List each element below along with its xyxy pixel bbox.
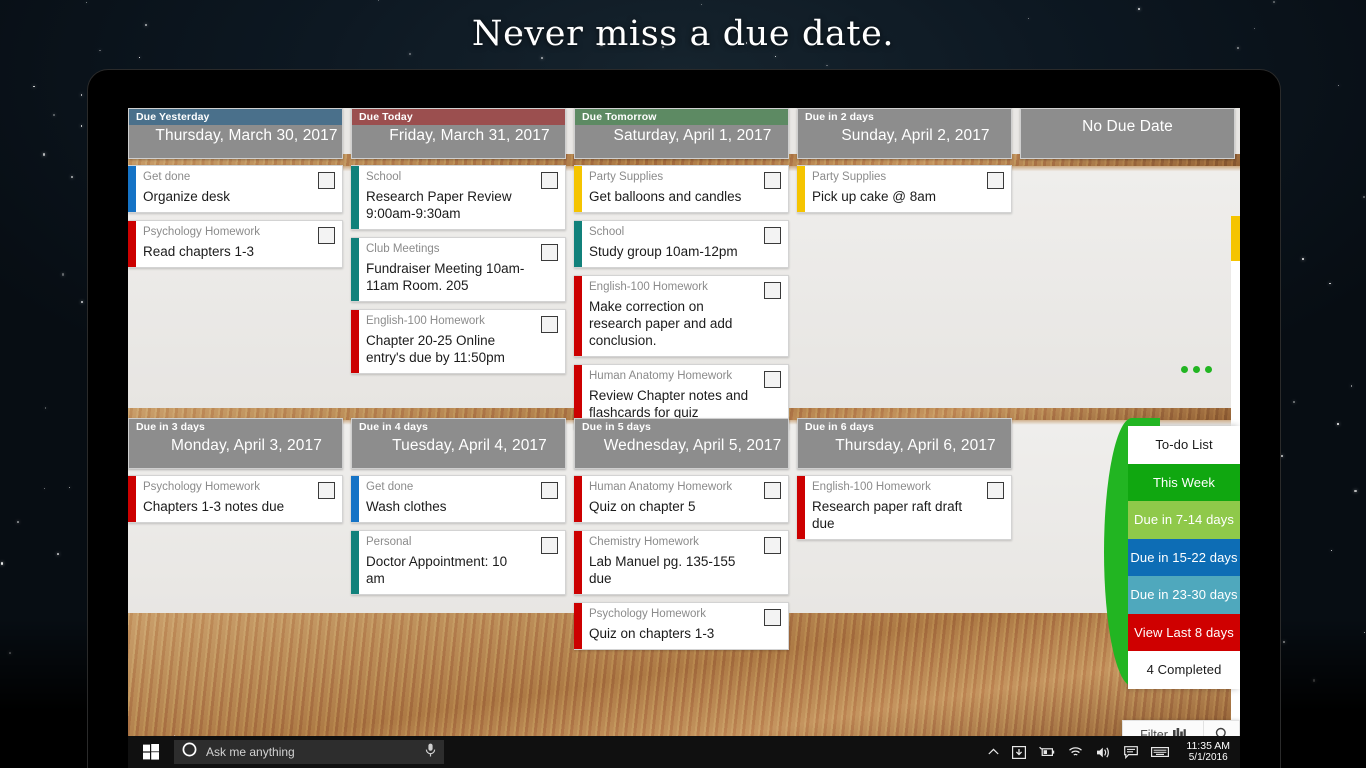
task-text: Pick up cake @ 8am — [812, 185, 1005, 205]
task-card-body: Get doneWash clothes — [359, 476, 565, 522]
flyout-item-due-in-7-14-days[interactable]: Due in 7-14 days — [1128, 501, 1240, 539]
task-list: Get doneWash clothesPersonalDoctor Appoi… — [351, 475, 566, 595]
star — [71, 176, 73, 178]
task-category-stripe — [574, 276, 582, 356]
star — [1338, 85, 1339, 86]
task-category-label: English-100 Homework — [589, 280, 782, 295]
task-card[interactable]: Party SuppliesPick up cake @ 8am — [797, 165, 1012, 213]
star — [1363, 196, 1365, 198]
task-card[interactable]: Party SuppliesGet balloons and candles — [574, 165, 789, 213]
task-checkbox[interactable] — [764, 482, 781, 499]
star — [1329, 283, 1330, 284]
task-category-stripe — [128, 476, 136, 522]
day-column: Due TomorrowSaturday, April 1, 2017Party… — [574, 108, 789, 436]
battery-icon[interactable] — [1039, 746, 1055, 758]
column-header[interactable]: Due in 4 daysTuesday, April 4, 2017 — [351, 418, 566, 469]
star — [57, 553, 59, 555]
column-header[interactable]: Due TodayFriday, March 31, 2017 — [351, 108, 566, 159]
task-text: Chapter 20-25 Online entry's due by 11:5… — [366, 329, 559, 366]
task-category-stripe — [128, 221, 136, 267]
dot-3 — [1205, 366, 1212, 373]
task-text: Research Paper Review 9:00am-9:30am — [366, 185, 559, 222]
task-card[interactable]: SchoolStudy group 10am-12pm — [574, 220, 789, 268]
task-card-body: Psychology HomeworkQuiz on chapters 1-3 — [582, 603, 788, 649]
day-column: Due YesterdayThursday, March 30, 2017Get… — [128, 108, 343, 275]
windows-start-icon[interactable] — [128, 736, 174, 768]
page-title: Never miss a due date. — [0, 14, 1366, 54]
windows-taskbar: Ask me anything — [128, 736, 1240, 768]
day-column: Due in 4 daysTuesday, April 4, 2017Get d… — [351, 418, 566, 602]
task-card[interactable]: Psychology HomeworkRead chapters 1-3 — [128, 220, 343, 268]
task-text: Read chapters 1-3 — [143, 240, 336, 260]
task-category-label: Human Anatomy Homework — [589, 369, 782, 384]
task-list: Psychology HomeworkChapters 1-3 notes du… — [128, 475, 343, 523]
star — [1354, 490, 1356, 492]
cortana-circle-icon — [182, 742, 197, 762]
task-category-stripe — [574, 166, 582, 212]
task-checkbox[interactable] — [541, 316, 558, 333]
column-header[interactable]: Due in 5 daysWednesday, April 5, 2017 — [574, 418, 789, 469]
column-date-label: Tuesday, April 4, 2017 — [352, 435, 565, 455]
task-list: Human Anatomy HomeworkQuiz on chapter 5C… — [574, 475, 789, 650]
star — [81, 94, 82, 95]
flyout-item-to-do-list[interactable]: To-do List — [1128, 426, 1240, 464]
task-card[interactable]: Get doneWash clothes — [351, 475, 566, 523]
star — [81, 125, 83, 127]
laptop-frame: Due YesterdayThursday, March 30, 2017Get… — [88, 70, 1280, 768]
star — [44, 488, 45, 489]
cortana-search-box[interactable]: Ask me anything — [174, 740, 444, 764]
task-category-stripe — [351, 476, 359, 522]
day-column: No Due Date — [1020, 108, 1235, 165]
day-column: Due in 5 daysWednesday, April 5, 2017Hum… — [574, 418, 789, 657]
task-text: Get balloons and candles — [589, 185, 782, 205]
task-card[interactable]: Get doneOrganize desk — [128, 165, 343, 213]
taskbar-clock[interactable]: 11:35 AM 5/1/2016 — [1182, 740, 1230, 764]
task-category-stripe — [351, 238, 359, 301]
task-category-label: Get done — [143, 170, 336, 185]
task-category-label: Psychology Homework — [589, 607, 782, 622]
action-center-icon[interactable] — [1124, 746, 1138, 759]
task-text: Chapters 1-3 notes due — [143, 495, 336, 515]
task-card-body: Psychology HomeworkRead chapters 1-3 — [136, 221, 342, 267]
task-checkbox[interactable] — [764, 537, 781, 554]
onedrive-icon[interactable] — [1012, 746, 1026, 759]
task-category-stripe — [797, 166, 805, 212]
column-date-label: No Due Date — [1082, 118, 1173, 136]
task-card-body: Party SuppliesPick up cake @ 8am — [805, 166, 1011, 212]
task-category-label: Personal — [366, 535, 559, 550]
task-card[interactable]: English-100 HomeworkResearch paper raft … — [797, 475, 1012, 540]
task-text: Wash clothes — [366, 495, 559, 515]
task-card-body: Psychology HomeworkChapters 1-3 notes du… — [136, 476, 342, 522]
column-due-tag: Due in 4 days — [352, 419, 565, 435]
star — [86, 2, 87, 3]
task-checkbox[interactable] — [987, 172, 1004, 189]
flyout-item-view-last-8-days[interactable]: View Last 8 days — [1128, 614, 1240, 652]
task-category-label: Party Supplies — [812, 170, 1005, 185]
star — [1, 562, 3, 564]
task-text: Make correction on research paper and ad… — [589, 295, 782, 349]
cortana-placeholder: Ask me anything — [206, 745, 416, 759]
system-tray: 11:35 AM 5/1/2016 — [988, 740, 1240, 764]
flyout-item-4-completed[interactable]: 4 Completed — [1128, 651, 1240, 689]
task-text: Quiz on chapters 1-3 — [589, 622, 782, 642]
wifi-icon[interactable] — [1068, 746, 1083, 758]
star — [62, 273, 64, 275]
column-date-label: Thursday, April 6, 2017 — [798, 435, 1011, 455]
clock-date: 5/1/2016 — [1186, 752, 1230, 764]
task-checkbox[interactable] — [541, 537, 558, 554]
task-list: Party SuppliesPick up cake @ 8am — [797, 165, 1012, 213]
star — [1293, 401, 1295, 403]
flyout-item-due-in-23-30-days[interactable]: Due in 23-30 days — [1128, 576, 1240, 614]
task-card[interactable]: PersonalDoctor Appointment: 10 am — [351, 530, 566, 595]
volume-icon[interactable] — [1096, 746, 1111, 759]
clock-time: 11:35 AM — [1186, 740, 1230, 752]
laptop-screen: Due YesterdayThursday, March 30, 2017Get… — [128, 108, 1240, 768]
task-card-body: English-100 HomeworkChapter 20-25 Online… — [359, 310, 565, 373]
dot-2 — [1193, 366, 1200, 373]
task-card[interactable]: Chemistry HomeworkLab Manuel pg. 135-155… — [574, 530, 789, 595]
task-category-stripe — [574, 221, 582, 267]
task-category-stripe — [574, 531, 582, 594]
keyboard-icon[interactable] — [1151, 746, 1169, 758]
task-category-label: English-100 Homework — [812, 480, 1005, 495]
column-due-tag: Due Yesterday — [129, 109, 342, 125]
star — [1351, 385, 1352, 386]
chevron-up-icon[interactable] — [988, 748, 999, 756]
task-category-label: Club Meetings — [366, 242, 559, 257]
task-checkbox[interactable] — [318, 482, 335, 499]
column-date-label: Wednesday, April 5, 2017 — [575, 435, 788, 455]
star — [69, 487, 70, 488]
task-category-label: English-100 Homework — [366, 314, 559, 329]
column-header[interactable]: Due YesterdayThursday, March 30, 2017 — [128, 108, 343, 159]
task-checkbox[interactable] — [764, 172, 781, 189]
day-column: Due in 3 daysMonday, April 3, 2017Psycho… — [128, 418, 343, 530]
star — [17, 521, 19, 523]
task-card-body: Get doneOrganize desk — [136, 166, 342, 212]
task-card[interactable]: Psychology HomeworkChapters 1-3 notes du… — [128, 475, 343, 523]
task-checkbox[interactable] — [987, 482, 1004, 499]
column-header[interactable]: Due TomorrowSaturday, April 1, 2017 — [574, 108, 789, 159]
task-card[interactable]: English-100 HomeworkChapter 20-25 Online… — [351, 309, 566, 374]
microphone-icon[interactable] — [425, 743, 436, 762]
star — [53, 114, 55, 116]
task-checkbox[interactable] — [541, 482, 558, 499]
task-checkbox[interactable] — [764, 371, 781, 388]
dot-1 — [1181, 366, 1188, 373]
column-due-tag: Due in 6 days — [798, 419, 1011, 435]
star — [1331, 550, 1332, 551]
task-checkbox[interactable] — [541, 172, 558, 189]
day-column: Due TodayFriday, March 31, 2017SchoolRes… — [351, 108, 566, 381]
task-card-body: PersonalDoctor Appointment: 10 am — [359, 531, 565, 594]
task-card[interactable]: Club MeetingsFundraiser Meeting 10am-11a… — [351, 237, 566, 302]
column-due-tag: Due Today — [352, 109, 565, 125]
task-text: Organize desk — [143, 185, 336, 205]
column-due-tag: Due in 3 days — [129, 419, 342, 435]
task-card[interactable]: SchoolResearch Paper Review 9:00am-9:30a… — [351, 165, 566, 230]
task-checkbox[interactable] — [764, 609, 781, 626]
task-text: Review Chapter notes and flashcards for … — [589, 384, 782, 421]
sliver-yellow-stripe — [1231, 216, 1240, 261]
column-due-tag: Due in 2 days — [798, 109, 1011, 125]
column-header[interactable]: Due in 3 daysMonday, April 3, 2017 — [128, 418, 343, 469]
task-card[interactable]: Psychology HomeworkQuiz on chapters 1-3 — [574, 602, 789, 650]
task-card[interactable]: English-100 HomeworkMake correction on r… — [574, 275, 789, 357]
task-list: Party SuppliesGet balloons and candlesSc… — [574, 165, 789, 429]
task-text: Research paper raft draft due — [812, 495, 1005, 532]
star — [45, 407, 46, 408]
column-header[interactable]: Due in 6 daysThursday, April 6, 2017 — [797, 418, 1012, 469]
task-checkbox[interactable] — [541, 244, 558, 261]
task-card-body: Club MeetingsFundraiser Meeting 10am-11a… — [359, 238, 565, 301]
column-date-label: Friday, March 31, 2017 — [352, 125, 565, 145]
star — [33, 86, 34, 87]
task-category-stripe — [797, 476, 805, 539]
star — [1273, 1, 1275, 3]
star — [1337, 423, 1339, 425]
column-date-label: Monday, April 3, 2017 — [129, 435, 342, 455]
task-category-label: School — [366, 170, 559, 185]
task-text: Doctor Appointment: 10 am — [366, 550, 559, 587]
column-due-tag: Due Tomorrow — [575, 109, 788, 125]
column-header[interactable]: No Due Date — [1020, 108, 1235, 159]
flyout-item-due-in-15-22-days[interactable]: Due in 15-22 days — [1128, 539, 1240, 577]
star — [826, 65, 828, 67]
star — [1302, 258, 1304, 260]
task-list: SchoolResearch Paper Review 9:00am-9:30a… — [351, 165, 566, 374]
star — [81, 301, 83, 303]
task-checkbox[interactable] — [318, 227, 335, 244]
task-category-label: Psychology Homework — [143, 480, 336, 495]
star — [43, 153, 45, 155]
star — [541, 57, 543, 59]
star — [775, 56, 776, 57]
task-category-label: Get done — [366, 480, 559, 495]
task-category-stripe — [574, 476, 582, 522]
task-checkbox[interactable] — [764, 227, 781, 244]
day-column: Due in 6 daysThursday, April 6, 2017Engl… — [797, 418, 1012, 547]
task-card-body: SchoolResearch Paper Review 9:00am-9:30a… — [359, 166, 565, 229]
task-card-body: Human Anatomy HomeworkQuiz on chapter 5 — [582, 476, 788, 522]
task-text: Lab Manuel pg. 135-155 due — [589, 550, 782, 587]
task-category-stripe — [351, 166, 359, 229]
task-checkbox[interactable] — [764, 282, 781, 299]
task-card-body: SchoolStudy group 10am-12pm — [582, 221, 788, 267]
flyout-drag-dots[interactable] — [1181, 366, 1212, 373]
task-category-stripe — [574, 603, 582, 649]
task-category-stripe — [351, 310, 359, 373]
task-card-body: Party SuppliesGet balloons and candles — [582, 166, 788, 212]
task-category-label: Party Supplies — [589, 170, 782, 185]
task-category-label: School — [589, 225, 782, 240]
day-column: Due in 2 daysSunday, April 2, 2017Party … — [797, 108, 1012, 220]
star — [139, 57, 140, 58]
column-date-label: Saturday, April 1, 2017 — [575, 125, 788, 145]
task-list: Get doneOrganize deskPsychology Homework… — [128, 165, 343, 268]
task-checkbox[interactable] — [318, 172, 335, 189]
task-card[interactable]: Human Anatomy HomeworkQuiz on chapter 5 — [574, 475, 789, 523]
task-text: Study group 10am-12pm — [589, 240, 782, 260]
task-list: English-100 HomeworkResearch paper raft … — [797, 475, 1012, 540]
column-due-tag: Due in 5 days — [575, 419, 788, 435]
todo-filter-flyout[interactable]: To-do ListThis WeekDue in 7-14 daysDue i… — [1128, 426, 1240, 689]
column-header[interactable]: Due in 2 daysSunday, April 2, 2017 — [797, 108, 1012, 159]
column-date-label: Sunday, April 2, 2017 — [798, 125, 1011, 145]
task-card-body: Chemistry HomeworkLab Manuel pg. 135-155… — [582, 531, 788, 594]
star — [1281, 455, 1283, 457]
star — [1138, 8, 1140, 10]
task-text: Fundraiser Meeting 10am-11am Room. 205 — [366, 257, 559, 294]
star — [701, 4, 702, 5]
task-category-label: Human Anatomy Homework — [589, 480, 782, 495]
task-category-stripe — [128, 166, 136, 212]
task-card-body: English-100 HomeworkMake correction on r… — [582, 276, 788, 356]
task-text: Quiz on chapter 5 — [589, 495, 782, 515]
star — [378, 0, 379, 1]
task-category-stripe — [351, 531, 359, 594]
flyout-item-this-week[interactable]: This Week — [1128, 464, 1240, 502]
task-category-label: Psychology Homework — [143, 225, 336, 240]
task-category-label: Chemistry Homework — [589, 535, 782, 550]
column-date-label: Thursday, March 30, 2017 — [129, 125, 342, 145]
task-card-body: English-100 HomeworkResearch paper raft … — [805, 476, 1011, 539]
